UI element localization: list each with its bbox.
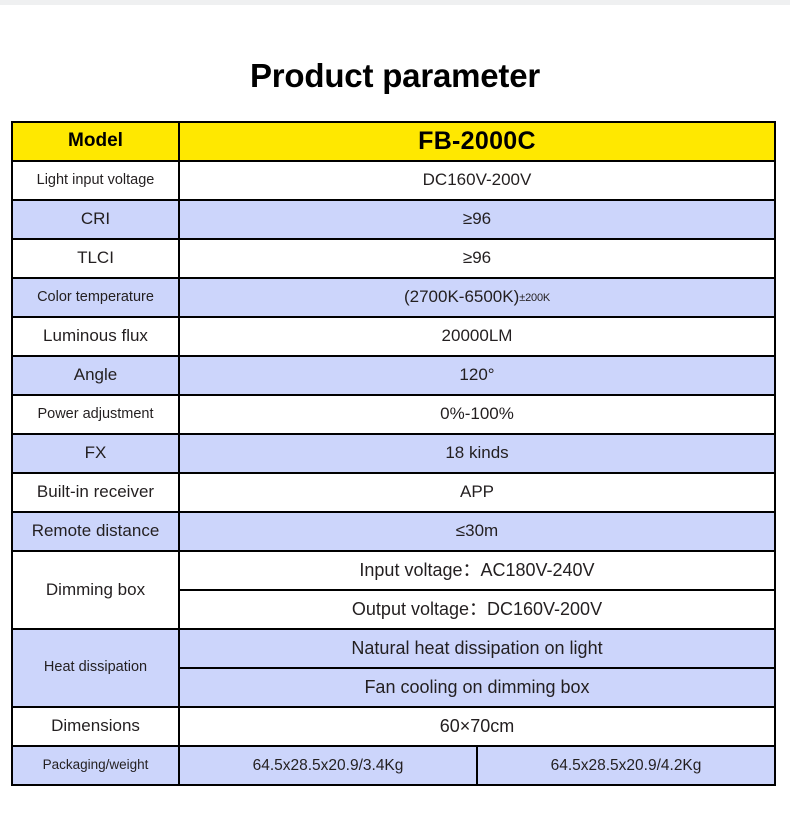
row-label-angle: Angle xyxy=(12,356,179,395)
header-label-model: Model xyxy=(12,122,179,161)
row-value-color-temperature: (2700K-6500K)±200K xyxy=(179,278,775,317)
table-row-light-input-voltage: Light input voltage DC160V-200V xyxy=(12,161,775,200)
row-label-fx: FX xyxy=(12,434,179,473)
row-value-built-in-receiver: APP xyxy=(179,473,775,512)
table-row-dimming-box-input: Dimming box Input voltage：AC180V-240V xyxy=(12,551,775,590)
table-row-power-adjustment: Power adjustment 0%-100% xyxy=(12,395,775,434)
color-temperature-tolerance: ±200K xyxy=(519,292,550,304)
color-temperature-range: (2700K-6500K) xyxy=(404,287,519,306)
row-value-dimensions: 60×70cm xyxy=(179,707,775,746)
row-label-dimensions: Dimensions xyxy=(12,707,179,746)
header-value-model: FB-2000C xyxy=(179,122,775,161)
row-value-fx: 18 kinds xyxy=(179,434,775,473)
row-value-cri: ≥96 xyxy=(179,200,775,239)
page-title: Product parameter xyxy=(0,57,790,95)
table-row-packaging-weight: Packaging/weight 64.5x28.5x20.9/3.4Kg 64… xyxy=(12,746,775,785)
row-label-built-in-receiver: Built-in receiver xyxy=(12,473,179,512)
row-label-power-adjustment: Power adjustment xyxy=(12,395,179,434)
row-label-luminous-flux: Luminous flux xyxy=(12,317,179,356)
row-value-packaging-weight-left: 64.5x28.5x20.9/3.4Kg xyxy=(179,746,477,785)
row-value-dimming-box-input: Input voltage：AC180V-240V xyxy=(179,551,775,590)
table-row-remote-distance: Remote distance ≤30m xyxy=(12,512,775,551)
table-row-model: Model FB-2000C xyxy=(12,122,775,161)
row-label-color-temperature: Color temperature xyxy=(12,278,179,317)
row-value-dimming-box-output: Output voltage：DC160V-200V xyxy=(179,590,775,629)
table-row-dimensions: Dimensions 60×70cm xyxy=(12,707,775,746)
table-row-luminous-flux: Luminous flux 20000LM xyxy=(12,317,775,356)
row-value-tlci: ≥96 xyxy=(179,239,775,278)
row-label-remote-distance: Remote distance xyxy=(12,512,179,551)
table-row-angle: Angle 120° xyxy=(12,356,775,395)
table-row-cri: CRI ≥96 xyxy=(12,200,775,239)
row-value-light-input-voltage: DC160V-200V xyxy=(179,161,775,200)
row-value-packaging-weight-right: 64.5x28.5x20.9/4.2Kg xyxy=(477,746,775,785)
row-label-light-input-voltage: Light input voltage xyxy=(12,161,179,200)
row-value-heat-dissipation-box: Fan cooling on dimming box xyxy=(179,668,775,707)
row-label-tlci: TLCI xyxy=(12,239,179,278)
row-label-packaging-weight: Packaging/weight xyxy=(12,746,179,785)
table-row-fx: FX 18 kinds xyxy=(12,434,775,473)
row-label-dimming-box: Dimming box xyxy=(12,551,179,629)
row-label-heat-dissipation: Heat dissipation xyxy=(12,629,179,707)
row-value-luminous-flux: 20000LM xyxy=(179,317,775,356)
row-label-cri: CRI xyxy=(12,200,179,239)
table-row-built-in-receiver: Built-in receiver APP xyxy=(12,473,775,512)
row-value-heat-dissipation-light: Natural heat dissipation on light xyxy=(179,629,775,668)
row-value-angle: 120° xyxy=(179,356,775,395)
top-gray-strip xyxy=(0,0,790,5)
row-value-power-adjustment: 0%-100% xyxy=(179,395,775,434)
row-value-remote-distance: ≤30m xyxy=(179,512,775,551)
product-parameter-table: Model FB-2000C Light input voltage DC160… xyxy=(11,121,776,786)
table-row-tlci: TLCI ≥96 xyxy=(12,239,775,278)
table-row-color-temperature: Color temperature (2700K-6500K)±200K xyxy=(12,278,775,317)
table-row-heat-dissipation-light: Heat dissipation Natural heat dissipatio… xyxy=(12,629,775,668)
